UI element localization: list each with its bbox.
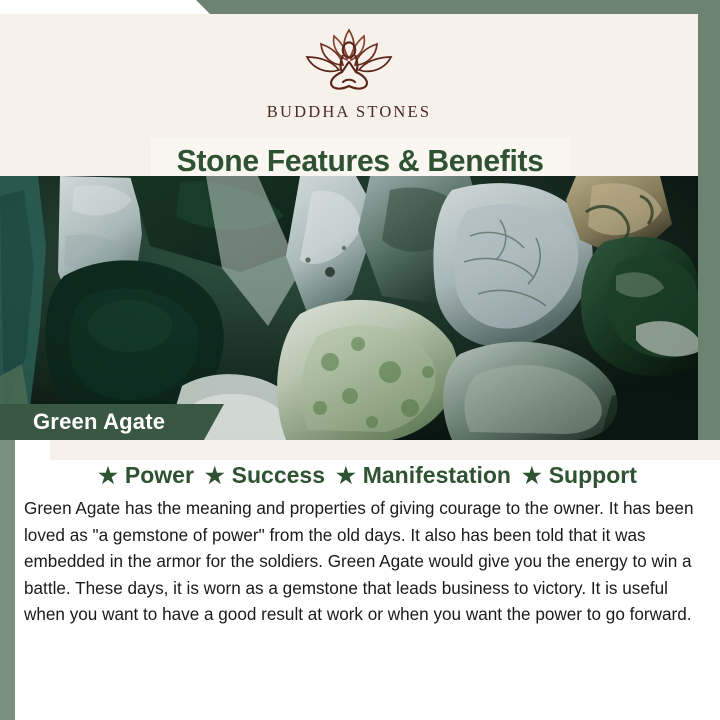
frame-left-bar xyxy=(0,440,15,720)
benefit-label: Power xyxy=(125,462,194,489)
header: BUDDHA STONES Stone Features & Benefits xyxy=(0,14,698,176)
stone-name-banner: Green Agate xyxy=(0,404,224,440)
benefit-item-support: ★ Support xyxy=(522,462,637,489)
infographic-page: BUDDHA STONES Stone Features & Benefits xyxy=(0,0,720,720)
benefit-label: Success xyxy=(232,462,325,489)
star-icon: ★ xyxy=(336,465,356,487)
benefit-item-manifestation: ★ Manifestation xyxy=(336,462,511,489)
star-icon: ★ xyxy=(205,465,225,487)
star-icon: ★ xyxy=(98,465,118,487)
brand-logo: BUDDHA STONES xyxy=(0,24,698,122)
stone-description: Green Agate has the meaning and properti… xyxy=(24,495,698,628)
cream-divider-strip xyxy=(50,440,720,460)
lotus-meditation-logo-icon xyxy=(285,24,413,96)
brand-name: BUDDHA STONES xyxy=(267,102,431,122)
stone-photo-illustration xyxy=(0,176,698,440)
stone-name: Green Agate xyxy=(33,409,165,435)
stone-photo xyxy=(0,176,698,440)
content-section: ★ Power ★ Success ★ Manifestation ★ Supp… xyxy=(15,440,720,720)
benefit-item-success: ★ Success xyxy=(205,462,325,489)
frame-right-bar xyxy=(698,0,720,440)
star-icon: ★ xyxy=(522,465,542,487)
benefit-label: Support xyxy=(549,462,637,489)
benefits-list: ★ Power ★ Success ★ Manifestation ★ Supp… xyxy=(15,462,720,489)
benefit-label: Manifestation xyxy=(363,462,511,489)
page-title: Stone Features & Benefits xyxy=(177,143,544,179)
benefit-item-power: ★ Power xyxy=(98,462,194,489)
